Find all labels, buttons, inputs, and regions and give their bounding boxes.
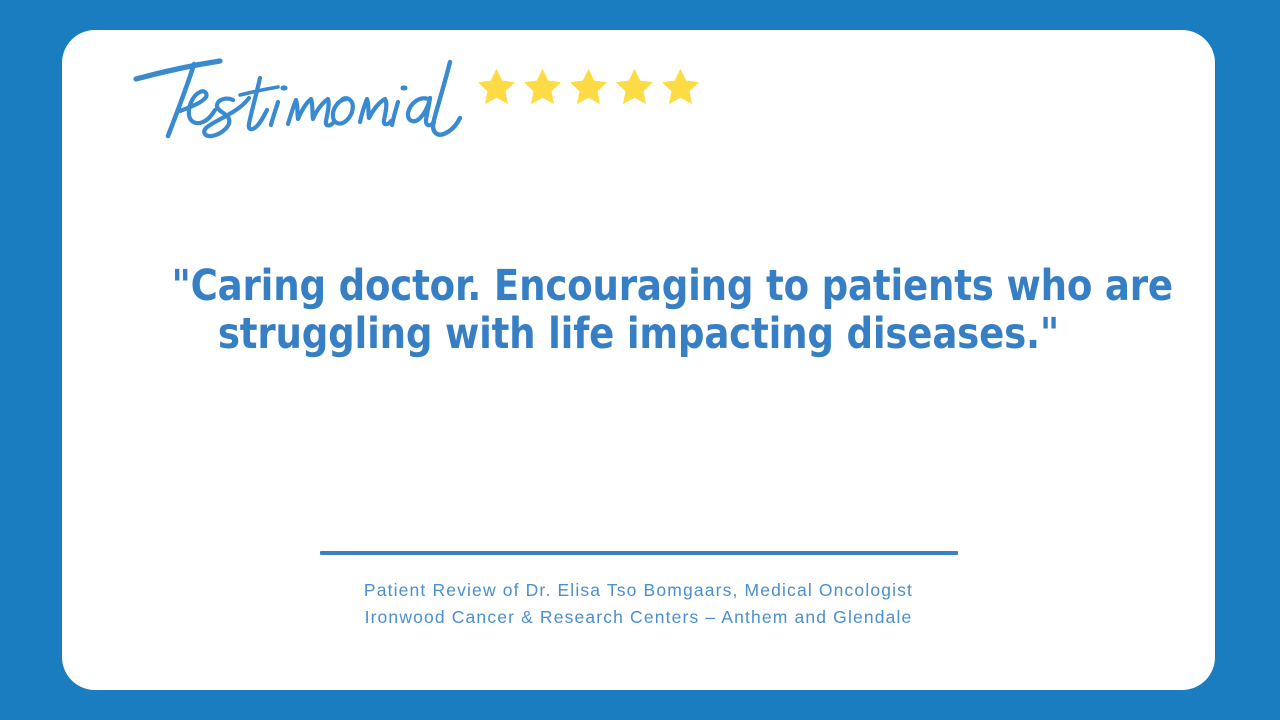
testimonial-quote: "Caring doctor. Encouraging to patients …	[85, 262, 1192, 358]
quote-line-2: struggling with life impacting diseases.…	[171, 310, 1105, 358]
star-icon	[660, 66, 701, 107]
card-header: Testimonial	[132, 58, 1132, 148]
attribution-line-2: Ironwood Cancer & Research Centers – Ant…	[62, 604, 1215, 631]
testimonial-attribution: Patient Review of Dr. Elisa Tso Bomgaars…	[62, 577, 1215, 631]
star-icon	[568, 66, 609, 107]
testimonial-slide: Testimonial	[0, 0, 1280, 720]
divider-rule	[320, 551, 958, 555]
star-rating	[476, 66, 701, 107]
testimonial-card: Testimonial	[62, 30, 1215, 690]
testimonial-script-title: Testimonial	[132, 58, 462, 144]
quote-line-1: "Caring doctor. Encouraging to patients …	[171, 262, 1105, 310]
attribution-line-1: Patient Review of Dr. Elisa Tso Bomgaars…	[62, 577, 1215, 604]
star-icon	[476, 66, 517, 107]
star-icon	[522, 66, 563, 107]
star-icon	[614, 66, 655, 107]
